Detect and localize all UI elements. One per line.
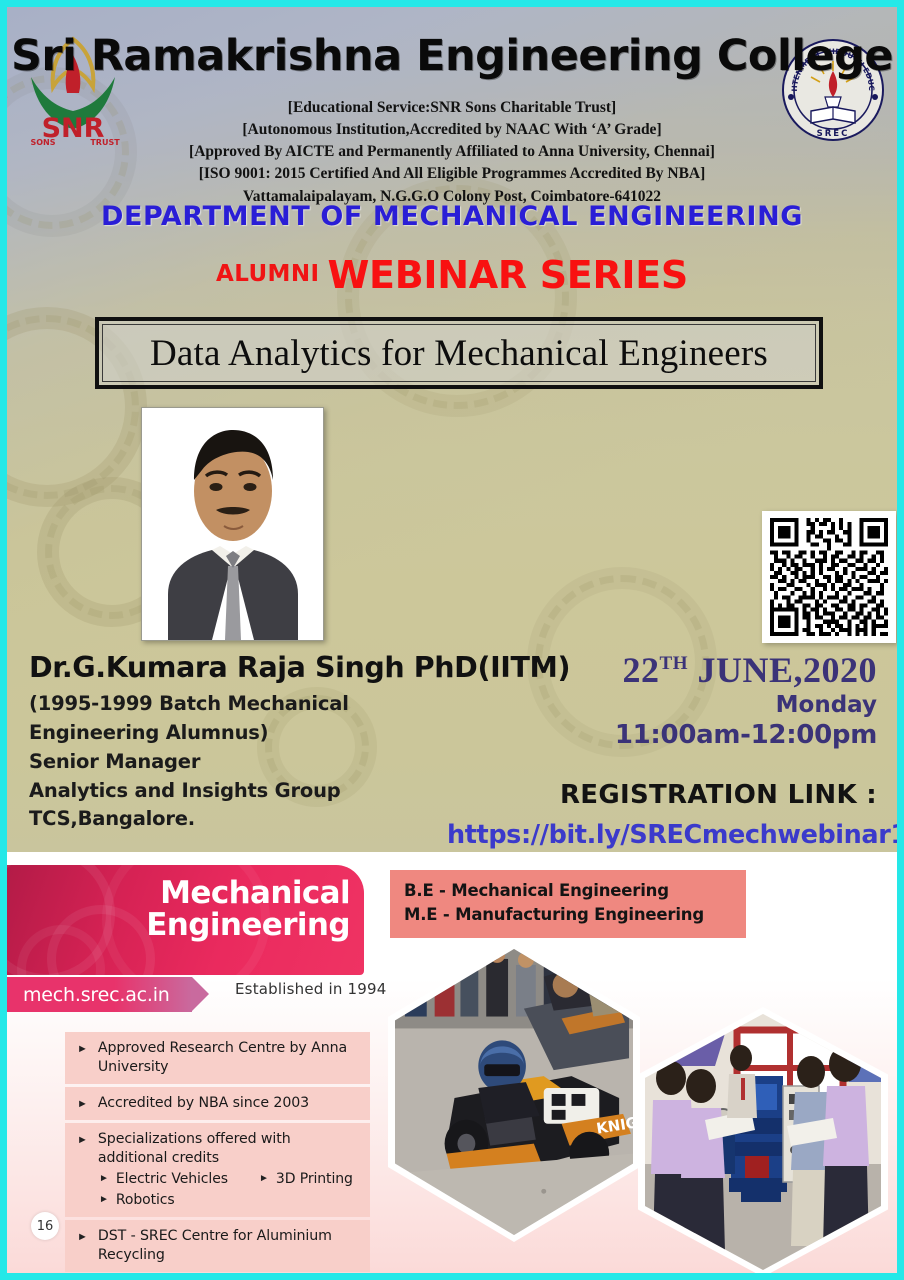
laboratory-photo bbox=[638, 1007, 888, 1273]
department-website: mech.srec.ac.in bbox=[7, 984, 170, 1006]
feature-text: Specializations offered with additional … bbox=[98, 1130, 360, 1168]
programmes-box: B.E - Mechanical Engineering M.E - Manuf… bbox=[390, 870, 746, 938]
registration-qr-code[interactable] bbox=[762, 511, 896, 643]
event-weekday: Monday bbox=[447, 692, 877, 718]
page-number-badge: 16 bbox=[31, 1212, 59, 1240]
bullet-triangle-icon: ► bbox=[77, 1094, 88, 1112]
bullet-triangle-icon: ► bbox=[99, 1170, 109, 1186]
feature-text: Accredited by NBA since 2003 bbox=[98, 1094, 309, 1113]
webinar-topic-text: Data Analytics for Mechanical Engineers bbox=[150, 332, 768, 375]
bullet-triangle-icon: ► bbox=[259, 1170, 269, 1186]
series-prefix-label: ALUMNI bbox=[216, 261, 319, 287]
bullet-triangle-icon: ► bbox=[77, 1227, 88, 1245]
series-name-label: WEBINAR SERIES bbox=[327, 253, 688, 297]
event-date-ordinal: TH bbox=[660, 653, 688, 674]
list-item: ► Approved Research Centre by Anna Unive… bbox=[65, 1032, 370, 1084]
feature-text: DST - SREC Centre for Aluminium Recyclin… bbox=[98, 1227, 360, 1265]
banner-title-line1: Mechanical bbox=[146, 877, 350, 909]
webinar-poster: SNR SONS TRUST ENLIGHTENMENT THROUGH EDU… bbox=[0, 0, 904, 1280]
department-website-ribbon[interactable]: mech.srec.ac.in bbox=[7, 977, 192, 1012]
department-feature-list: ► Approved Research Centre by Anna Unive… bbox=[65, 1032, 370, 1273]
programme-line: B.E - Mechanical Engineering bbox=[404, 879, 732, 903]
bullet-triangle-icon: ► bbox=[99, 1191, 109, 1207]
college-name: Sri Ramakrishna Engineering College bbox=[7, 35, 897, 78]
bullet-triangle-icon: ► bbox=[77, 1039, 88, 1057]
specialization-text: Robotics bbox=[116, 1191, 175, 1210]
banner-title-line2: Engineering bbox=[146, 909, 350, 941]
specialization-item: ► 3D Printing bbox=[259, 1170, 353, 1189]
webinar-series-heading: ALUMNIWEBINAR SERIES bbox=[7, 253, 897, 297]
department-banner-title: Mechanical Engineering bbox=[146, 877, 350, 941]
gokart-event-photo: KNIGHT bbox=[388, 942, 640, 1242]
accreditation-line: [Autonomous Institution,Accredited by NA… bbox=[7, 119, 897, 141]
bullet-triangle-icon: ► bbox=[77, 1130, 88, 1148]
accreditation-line: [ISO 9001: 2015 Certified And All Eligib… bbox=[7, 163, 897, 185]
specialization-text: 3D Printing bbox=[276, 1170, 353, 1189]
college-header: SNR SONS TRUST ENLIGHTENMENT THROUGH EDU… bbox=[7, 7, 897, 185]
webinar-topic-box: Data Analytics for Mechanical Engineers bbox=[95, 317, 823, 389]
established-label: Established in 1994 bbox=[235, 980, 386, 998]
event-date: 22TH JUNE,2020 bbox=[447, 652, 877, 690]
accreditation-block: [Educational Service:SNR Sons Charitable… bbox=[7, 97, 897, 208]
speaker-photo bbox=[141, 407, 324, 641]
registration-link[interactable]: https://bit.ly/SRECmechwebinar1 bbox=[447, 820, 877, 850]
list-item: ► Accredited by NBA since 2003 bbox=[65, 1087, 370, 1120]
registration-label: REGISTRATION LINK : bbox=[447, 780, 877, 810]
department-banner: Mechanical Engineering bbox=[7, 865, 364, 975]
poster-top-section: SNR SONS TRUST ENLIGHTENMENT THROUGH EDU… bbox=[7, 7, 897, 852]
event-date-day: 22 bbox=[623, 650, 660, 690]
accreditation-line: [Educational Service:SNR Sons Charitable… bbox=[7, 97, 897, 119]
feature-text: Approved Research Centre by Anna Univers… bbox=[98, 1039, 360, 1077]
list-item: ► Specializations offered with additiona… bbox=[65, 1123, 370, 1217]
specialization-text: Electric Vehicles bbox=[116, 1170, 228, 1189]
specialization-row: ► Electric Vehicles ► 3D Printing bbox=[77, 1170, 353, 1189]
event-time: 11:00am-12:00pm bbox=[447, 720, 877, 750]
specialization-item: ► Electric Vehicles bbox=[99, 1170, 249, 1189]
specialization-row: ► Robotics bbox=[77, 1191, 175, 1210]
specialization-item: ► Robotics bbox=[99, 1191, 175, 1210]
schedule-block: 22TH JUNE,2020 Monday 11:00am-12:00pm RE… bbox=[447, 652, 877, 850]
accreditation-line: [Approved By AICTE and Permanently Affil… bbox=[7, 141, 897, 163]
list-item: ► DST - SREC Centre for Aluminium Recycl… bbox=[65, 1220, 370, 1272]
event-date-month-year: JUNE,2020 bbox=[697, 650, 877, 690]
poster-bottom-section: Mechanical Engineering mech.srec.ac.in E… bbox=[7, 852, 897, 1273]
department-title: DEPARTMENT OF MECHANICAL ENGINEERING bbox=[7, 201, 897, 232]
programme-line: M.E - Manufacturing Engineering bbox=[404, 903, 732, 927]
